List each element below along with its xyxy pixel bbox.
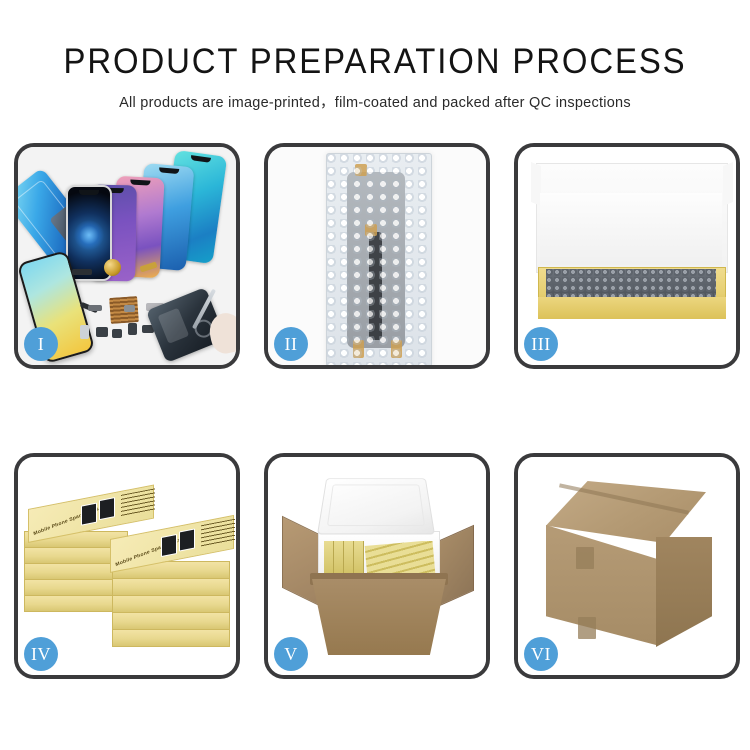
notch-icon [79, 190, 99, 195]
white-foam-sheet-icon [540, 193, 722, 265]
small-part-icon [128, 323, 137, 335]
bubble-texture-overlay [327, 154, 431, 365]
stacked-box [112, 612, 230, 630]
process-step-panel-4: Mobile Phone Spare Parts Mobile Phone Sp… [14, 453, 240, 679]
bubble-wrap-bag-icon [326, 153, 432, 365]
small-part-icon [124, 305, 135, 312]
small-part-icon [96, 327, 108, 337]
carton-tape-icon [578, 617, 596, 639]
process-step-panel-6: VI [514, 453, 740, 679]
box-label-spec-lines [201, 519, 235, 548]
box-label-screen-image [81, 503, 97, 526]
step-badge-6: VI [524, 637, 558, 671]
yellow-box-front-icon [538, 297, 726, 319]
carton-tape-icon [576, 547, 594, 569]
product-preparation-process-infographic: PRODUCT PREPARATION PROCESS All products… [0, 0, 750, 750]
box-label-screen-image [179, 528, 195, 551]
box-label-screen-image [99, 497, 115, 520]
header: PRODUCT PREPARATION PROCESS All products… [0, 0, 750, 112]
page-title: PRODUCT PREPARATION PROCESS [23, 0, 728, 82]
process-step-panel-1: I [14, 143, 240, 369]
carton-front-face [546, 525, 656, 645]
small-part-icon [80, 325, 89, 339]
process-step-grid: I II [14, 143, 740, 679]
box-label-screen-image [161, 534, 177, 557]
box-label-spec-lines [121, 488, 155, 517]
step-badge-1: I [24, 327, 58, 361]
step-badge-3: III [524, 327, 558, 361]
box-stack-icon: Mobile Phone Spare Parts Mobile Phone Sp… [24, 475, 236, 665]
step-badge-2: II [274, 327, 308, 361]
notch-icon [159, 167, 179, 174]
process-step-panel-2: II [264, 143, 490, 369]
speaker-component-icon [104, 259, 121, 276]
process-step-panel-5: V [264, 453, 490, 679]
notch-icon [130, 180, 150, 186]
grey-foam-padding-icon [546, 269, 716, 299]
foam-lid-icon [317, 478, 435, 534]
step-badge-4: IV [24, 637, 58, 671]
carton-body-icon [312, 579, 446, 655]
small-part-icon [88, 305, 102, 311]
step-badge-5: V [274, 637, 308, 671]
notch-icon [190, 155, 211, 163]
page-subtitle: All products are image-printed，film-coat… [0, 82, 750, 112]
component-bar-icon [72, 269, 92, 275]
sealed-carton-icon [540, 481, 718, 653]
stacked-box [112, 578, 230, 596]
stacked-box [112, 595, 230, 613]
carton-side-face [656, 537, 712, 647]
process-step-panel-3: III [514, 143, 740, 369]
small-part-icon [112, 329, 122, 338]
stacked-box [112, 629, 230, 647]
